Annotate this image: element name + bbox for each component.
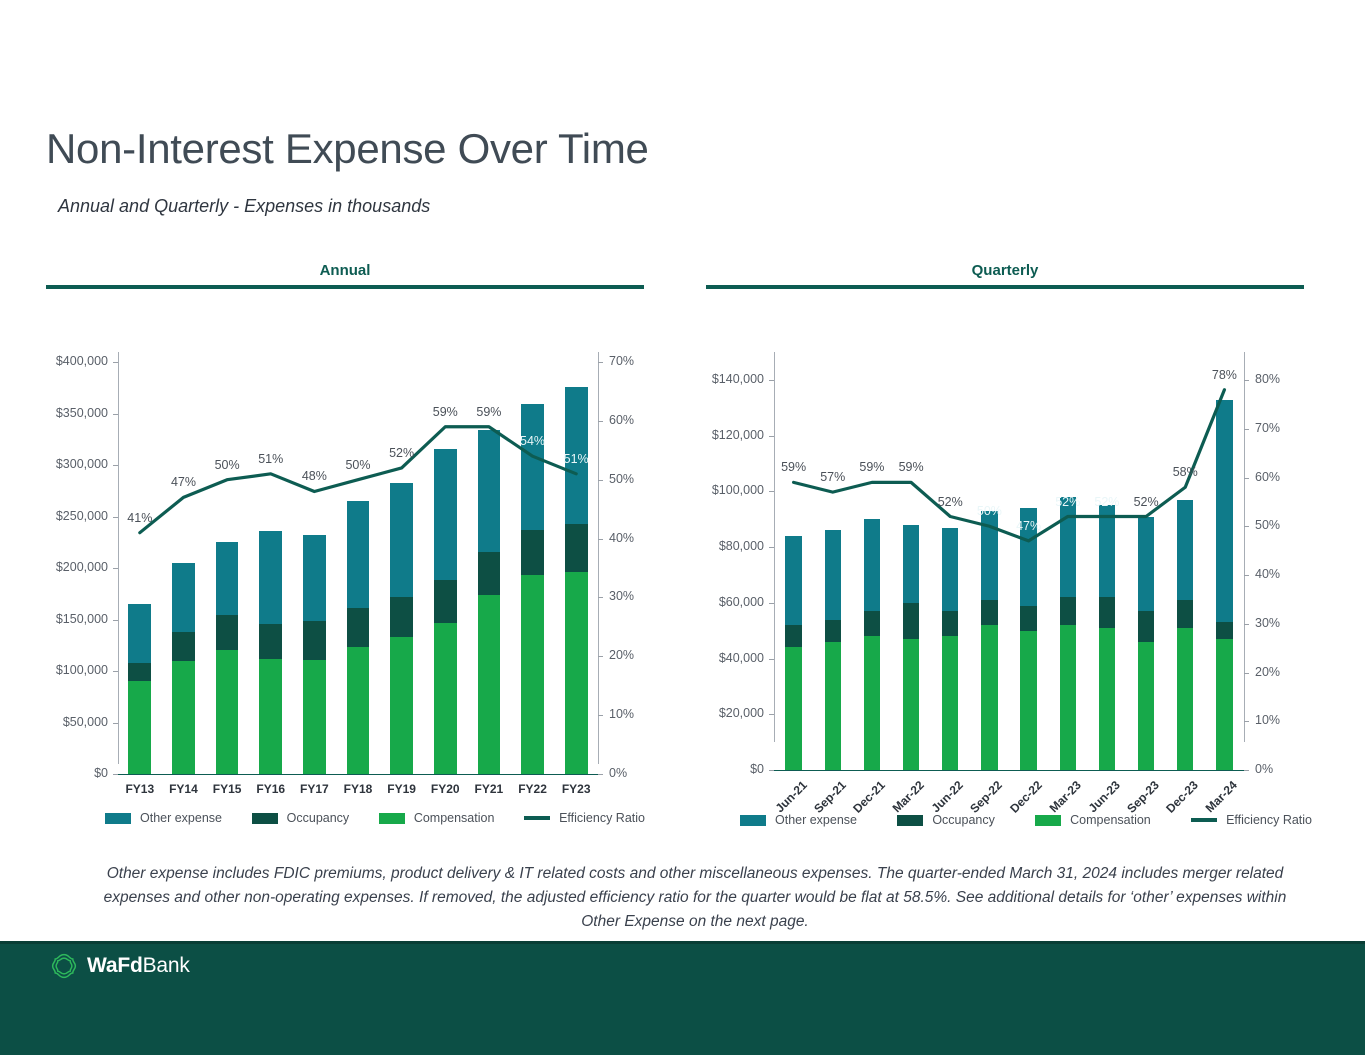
legend-label: Efficiency Ratio (559, 811, 645, 825)
ytick-label-right: 70% (609, 354, 634, 368)
legend-label: Occupancy (287, 811, 350, 825)
brand-logo-bold: WaFd (87, 954, 143, 977)
wreath-icon (50, 952, 78, 980)
efficiency-ratio-label: 52% (1085, 495, 1129, 509)
brand-logo-light: Bank (143, 954, 190, 977)
efficiency-ratio-label: 59% (423, 405, 467, 419)
ytick-label-right: 50% (609, 472, 634, 486)
ytick-left (113, 568, 118, 569)
ytick-label-left: $350,000 (56, 406, 108, 420)
ytick-label-left: $200,000 (56, 560, 108, 574)
ytick-right (1244, 575, 1249, 576)
plot-area-annual (118, 362, 598, 774)
ytick-label-left: $150,000 (56, 612, 108, 626)
ytick-left (769, 714, 774, 715)
footnote: Other expense includes FDIC premiums, pr… (100, 862, 1290, 934)
footer-bar (0, 941, 1365, 1055)
legend-swatch (1035, 815, 1061, 826)
ytick-label-right: 10% (1255, 713, 1280, 727)
chart-legend-annual: Other expenseOccupancyCompensationEffici… (105, 811, 645, 825)
efficiency-ratio-label: 59% (889, 460, 933, 474)
ytick-right (598, 656, 603, 657)
ytick-left (113, 362, 118, 363)
legend-item-other-expense[interactable]: Other expense (105, 811, 222, 825)
ytick-label-left: $40,000 (719, 651, 764, 665)
legend-item-other-expense[interactable]: Other expense (740, 813, 857, 827)
ytick-label-left: $300,000 (56, 457, 108, 471)
legend-item-compensation[interactable]: Compensation (379, 811, 495, 825)
legend-swatch (740, 815, 766, 826)
ytick-label-right: 20% (609, 648, 634, 662)
xtick-label: FY13 (118, 782, 162, 796)
ytick-right (1244, 770, 1249, 771)
xtick-label: FY23 (554, 782, 598, 796)
legend-label: Efficiency Ratio (1226, 813, 1312, 827)
xtick-label: FY20 (423, 782, 467, 796)
ytick-label-right: 60% (609, 413, 634, 427)
ytick-label-left: $140,000 (712, 372, 764, 386)
legend-item-efficiency-ratio[interactable]: Efficiency Ratio (1191, 813, 1312, 827)
xtick-label: FY14 (162, 782, 206, 796)
legend-item-occupancy[interactable]: Occupancy (252, 811, 350, 825)
efficiency-ratio-label: 50% (336, 458, 380, 472)
ytick-label-right: 40% (609, 531, 634, 545)
plot-area-quarterly (774, 380, 1244, 770)
legend-swatch (524, 816, 550, 820)
ytick-label-right: 10% (609, 707, 634, 721)
ytick-right (598, 362, 603, 363)
xtick-label: FY17 (293, 782, 337, 796)
ytick-right (1244, 429, 1249, 430)
legend-swatch (252, 813, 278, 824)
efficiency-ratio-label: 52% (928, 495, 972, 509)
ytick-left (113, 774, 118, 775)
efficiency-ratio-label: 50% (205, 458, 249, 472)
efficiency-ratio-label: 59% (467, 405, 511, 419)
axis-line-left (118, 352, 119, 764)
panel-header-quarterly: Quarterly (706, 262, 1304, 289)
ytick-label-left: $100,000 (56, 663, 108, 677)
ytick-left (769, 491, 774, 492)
ytick-label-right: 30% (1255, 616, 1280, 630)
ytick-label-left: $0 (94, 766, 108, 780)
ytick-right (1244, 673, 1249, 674)
efficiency-ratio-label: 47% (161, 475, 205, 489)
xtick-label: FY15 (205, 782, 249, 796)
ytick-right (598, 480, 603, 481)
efficiency-ratio-label: 52% (380, 446, 424, 460)
ytick-right (598, 774, 603, 775)
ytick-left (769, 659, 774, 660)
efficiency-ratio-line (118, 362, 598, 774)
ytick-right (1244, 624, 1249, 625)
ytick-left (769, 547, 774, 548)
chart-quarterly: $0$20,000$40,000$60,000$80,000$100,000$1… (686, 352, 1306, 842)
panel-header-annual-rule (46, 285, 644, 289)
axis-line-left (774, 352, 775, 742)
chart-legend-quarterly: Other expenseOccupancyCompensationEffici… (740, 813, 1312, 827)
ytick-right (598, 421, 603, 422)
legend-swatch (897, 815, 923, 826)
ytick-right (1244, 478, 1249, 479)
page-title: Non-Interest Expense Over Time (46, 125, 649, 173)
panel-header-quarterly-rule (706, 285, 1304, 289)
efficiency-ratio-label: 52% (1046, 495, 1090, 509)
ytick-left (769, 603, 774, 604)
ytick-label-left: $0 (750, 762, 764, 776)
efficiency-ratio-label: 50% (967, 504, 1011, 518)
page-subtitle: Annual and Quarterly - Expenses in thous… (58, 196, 430, 217)
xtick-label: FY21 (467, 782, 511, 796)
efficiency-ratio-label: 78% (1202, 368, 1246, 382)
legend-label: Occupancy (932, 813, 995, 827)
ytick-left (113, 723, 118, 724)
panel-header-annual-label: Annual (46, 262, 644, 279)
efficiency-ratio-label: 54% (511, 434, 555, 448)
ytick-label-left: $80,000 (719, 539, 764, 553)
efficiency-ratio-label: 59% (850, 460, 894, 474)
ytick-left (113, 671, 118, 672)
axis-baseline (118, 774, 598, 775)
ytick-label-left: $400,000 (56, 354, 108, 368)
axis-baseline (774, 770, 1244, 771)
ytick-label-right: 60% (1255, 470, 1280, 484)
ytick-label-left: $60,000 (719, 595, 764, 609)
efficiency-ratio-label: 59% (772, 460, 816, 474)
legend-label: Compensation (1070, 813, 1151, 827)
ytick-left (113, 465, 118, 466)
brand-logo: WaFdBank (50, 952, 190, 980)
axis-line-right (598, 352, 599, 764)
ytick-label-left: $50,000 (63, 715, 108, 729)
brand-logo-text: WaFdBank (87, 954, 190, 978)
ytick-label-left: $20,000 (719, 706, 764, 720)
ytick-label-right: 30% (609, 589, 634, 603)
ytick-label-left: $120,000 (712, 428, 764, 442)
footer-accent-line (0, 941, 1365, 944)
ytick-right (1244, 721, 1249, 722)
legend-item-efficiency-ratio[interactable]: Efficiency Ratio (524, 811, 645, 825)
ytick-left (769, 436, 774, 437)
legend-label: Compensation (414, 811, 495, 825)
ytick-right (1244, 526, 1249, 527)
ytick-left (769, 770, 774, 771)
legend-item-compensation[interactable]: Compensation (1035, 813, 1151, 827)
xtick-label: FY16 (249, 782, 293, 796)
legend-label: Other expense (775, 813, 857, 827)
ytick-right (598, 715, 603, 716)
ytick-left (113, 414, 118, 415)
efficiency-ratio-label: 47% (1007, 519, 1051, 533)
xtick-label: FY22 (511, 782, 555, 796)
legend-item-occupancy[interactable]: Occupancy (897, 813, 995, 827)
ytick-right (598, 597, 603, 598)
legend-swatch (379, 813, 405, 824)
ytick-label-right: 50% (1255, 518, 1280, 532)
ytick-label-left: $100,000 (712, 483, 764, 497)
ytick-label-left: $250,000 (56, 509, 108, 523)
axis-line-right (1244, 352, 1245, 742)
efficiency-ratio-label: 58% (1163, 465, 1207, 479)
efficiency-ratio-label: 41% (118, 511, 162, 525)
efficiency-ratio-label: 52% (1124, 495, 1168, 509)
ytick-label-right: 40% (1255, 567, 1280, 581)
legend-swatch (105, 813, 131, 824)
efficiency-ratio-label: 51% (249, 452, 293, 466)
legend-swatch (1191, 818, 1217, 822)
ytick-label-right: 70% (1255, 421, 1280, 435)
panel-header-annual: Annual (46, 262, 644, 289)
panel-header-quarterly-label: Quarterly (706, 262, 1304, 279)
ytick-right (598, 539, 603, 540)
efficiency-ratio-label: 48% (292, 469, 336, 483)
ytick-label-right: 20% (1255, 665, 1280, 679)
ytick-label-right: 0% (1255, 762, 1273, 776)
xtick-label: FY19 (380, 782, 424, 796)
xtick-label: FY18 (336, 782, 380, 796)
ytick-label-right: 80% (1255, 372, 1280, 386)
ytick-left (769, 380, 774, 381)
chart-annual: $0$50,000$100,000$150,000$200,000$250,00… (46, 352, 666, 842)
efficiency-ratio-label: 57% (811, 470, 855, 484)
ytick-left (113, 620, 118, 621)
ytick-label-right: 0% (609, 766, 627, 780)
legend-label: Other expense (140, 811, 222, 825)
efficiency-ratio-label: 51% (554, 452, 598, 466)
efficiency-ratio-line (774, 380, 1244, 770)
